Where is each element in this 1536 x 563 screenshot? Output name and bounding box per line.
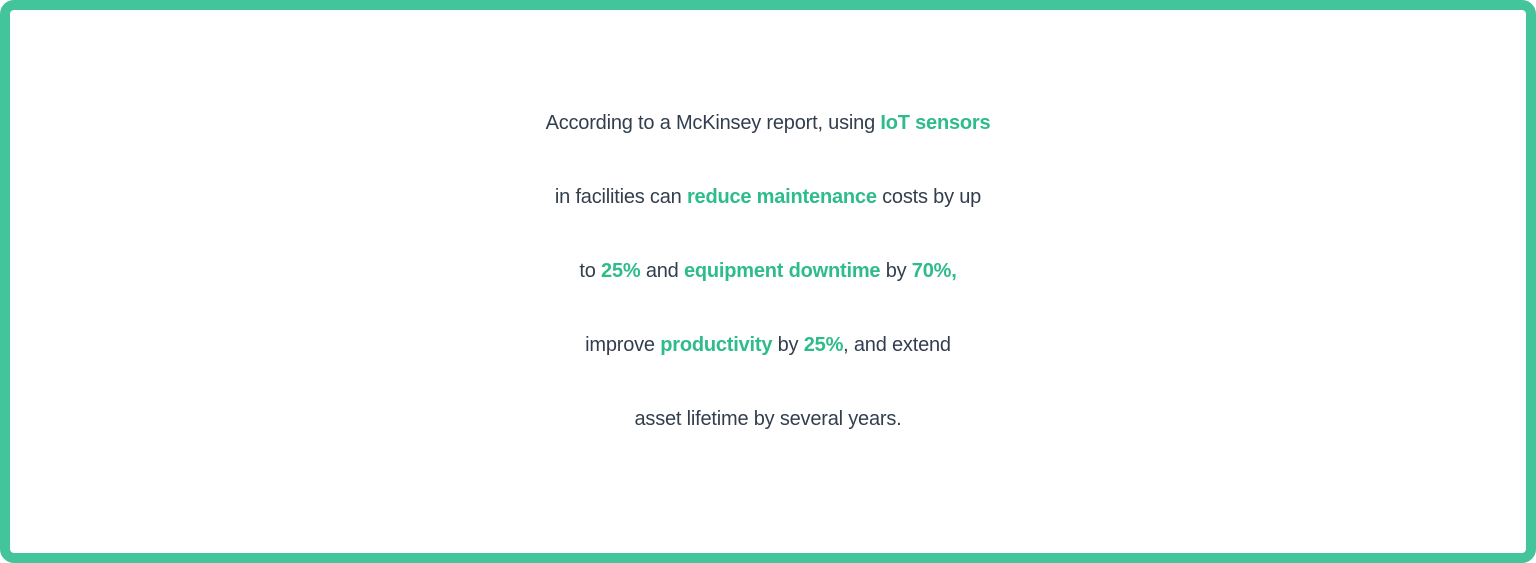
quote-plain-text: asset lifetime by several years. (634, 408, 901, 430)
quote-plain-text: to (579, 260, 601, 282)
quote-line: in facilities can reduce maintenance cos… (128, 160, 1408, 234)
quote-plain-text: , and extend (843, 334, 951, 356)
quote-line: asset lifetime by several years. (128, 382, 1408, 456)
quote-highlight-text: reduce maintenance (687, 186, 877, 208)
quote-plain-text: costs by up (877, 186, 981, 208)
quote-plain-text: improve (585, 334, 660, 356)
quote-text-block: According to a McKinsey report, using Io… (128, 86, 1408, 456)
quote-highlight-text: IoT sensors (880, 112, 990, 134)
quote-highlight-text: 25% (601, 260, 640, 282)
quote-plain-text: by (772, 334, 803, 356)
quote-plain-text: by (880, 260, 911, 282)
quote-highlight-text: equipment downtime (684, 260, 880, 282)
quote-plain-text: and (640, 260, 683, 282)
quote-line: improve productivity by 25%, and extend (128, 308, 1408, 382)
quote-highlight-text: productivity (660, 334, 772, 356)
quote-line: to 25% and equipment downtime by 70%, (128, 234, 1408, 308)
quote-card: According to a McKinsey report, using Io… (0, 0, 1536, 563)
quote-plain-text: According to a McKinsey report, using (546, 112, 881, 134)
quote-plain-text: in facilities can (555, 186, 687, 208)
quote-highlight-text: 25% (804, 334, 843, 356)
quote-line: According to a McKinsey report, using Io… (128, 86, 1408, 160)
quote-highlight-text: 70%, (912, 260, 957, 282)
